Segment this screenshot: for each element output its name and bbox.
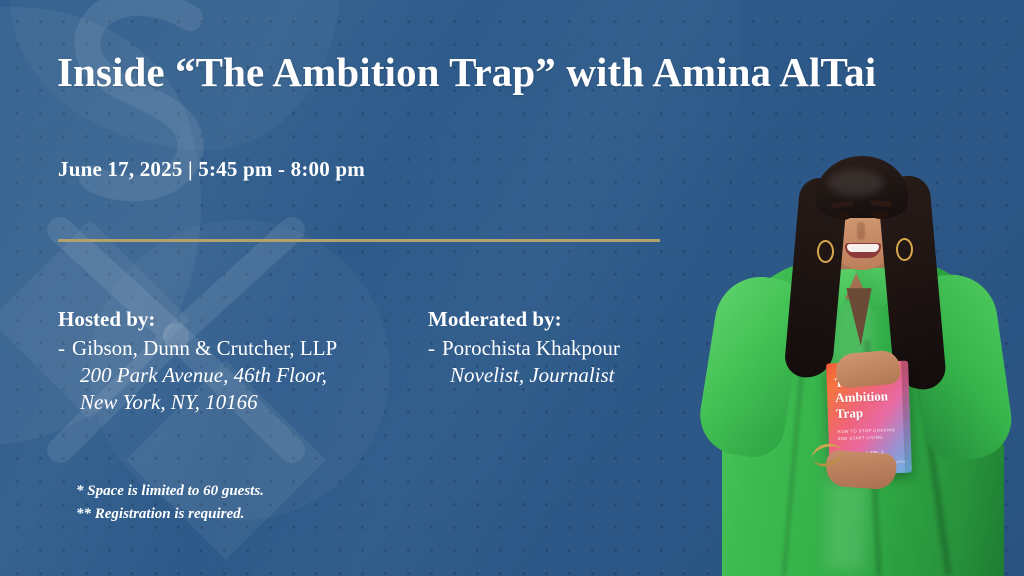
moderated-by-name-row: - Porochista Khakpour <box>428 335 620 362</box>
gold-divider-rule <box>58 239 660 242</box>
moderated-by-role: Novelist, Journalist <box>450 362 620 389</box>
hosted-by-organization-row: - Gibson, Dunn & Crutcher, LLP <box>58 335 337 362</box>
book-title-line-2: Ambition <box>835 389 888 406</box>
hand-upper <box>835 349 902 388</box>
hosted-by-address-line-2: New York, NY, 10166 <box>80 389 337 416</box>
footnote-registration: ** Registration is required. <box>76 503 264 526</box>
hosted-by-organization: Gibson, Dunn & Crutcher, LLP <box>72 335 337 362</box>
bullet-dash-icon: - <box>58 335 65 362</box>
moderated-by-name: Porochista Khakpour <box>442 335 620 362</box>
moderated-by-heading: Moderated by: <box>428 306 620 333</box>
speaker-portrait-photo: The Ambition Trap How to stop chasing an… <box>700 0 1024 576</box>
hosted-by-address-line-1: 200 Park Avenue, 46th Floor, <box>80 362 337 389</box>
footnotes-block: * Space is limited to 60 guests. ** Regi… <box>76 480 264 525</box>
eye-right <box>872 211 889 219</box>
moderated-by-block: Moderated by: - Porochista Khakpour Nove… <box>428 306 620 389</box>
book-title-line-3: Trap <box>836 404 889 421</box>
earring-left <box>817 240 834 263</box>
footnote-capacity: * Space is limited to 60 guests. <box>76 480 264 503</box>
bullet-dash-icon: - <box>428 335 435 362</box>
earring-right <box>896 238 913 261</box>
hosted-by-block: Hosted by: - Gibson, Dunn & Crutcher, LL… <box>58 306 337 416</box>
hosted-by-heading: Hosted by: <box>58 306 337 333</box>
eye-left <box>834 212 851 220</box>
event-datetime: June 17, 2025 | 5:45 pm - 8:00 pm <box>58 157 365 182</box>
nose <box>857 222 865 240</box>
book-subtitle: How to stop chasing and start living <box>837 427 899 443</box>
mouth <box>845 243 881 258</box>
event-invitation-slide: Inside “The Ambition Trap” with Amina Al… <box>0 0 1024 576</box>
